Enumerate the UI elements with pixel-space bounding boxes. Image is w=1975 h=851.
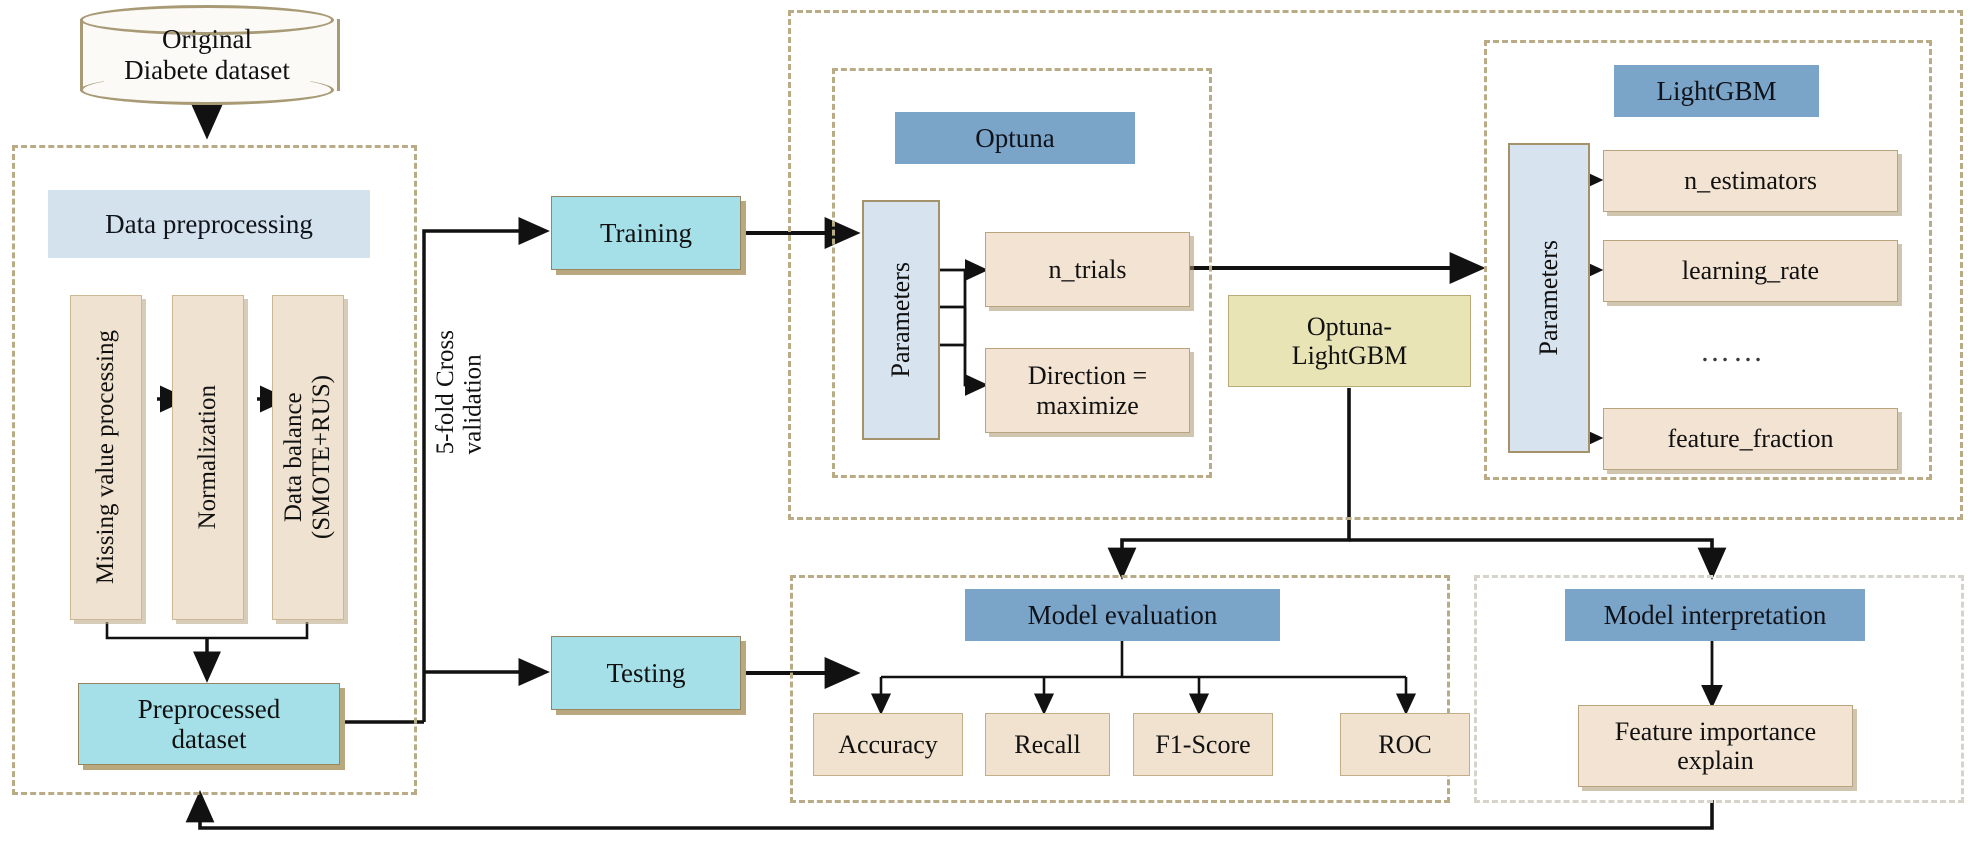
metric-recall[interactable]: Recall bbox=[985, 713, 1110, 776]
cross-validation-label: 5-fold Cross validation bbox=[432, 330, 492, 461]
original-dataset-label: Original Diabete dataset bbox=[80, 5, 334, 105]
metric-accuracy[interactable]: Accuracy bbox=[813, 713, 963, 776]
lightgbm-header: LightGBM bbox=[1614, 65, 1819, 117]
lightgbm-parameters-label: Parameters bbox=[1534, 240, 1563, 356]
lightgbm-param-feature-fraction[interactable]: feature_fraction bbox=[1603, 408, 1898, 470]
lightgbm-parameters-box[interactable]: Parameters bbox=[1508, 143, 1590, 453]
flowchart-canvas: Original Diabete dataset Data preprocess… bbox=[0, 0, 1975, 851]
preprocessed-dataset-box[interactable]: Preprocessed dataset bbox=[78, 683, 340, 765]
data-balance-line-2: (SMOTE+RUS) bbox=[308, 375, 335, 539]
preprocessing-step-normalization[interactable]: Normalization bbox=[172, 295, 244, 620]
feature-importance-line-2: explain bbox=[1677, 746, 1754, 775]
preprocessing-step-label: Missing value processing bbox=[92, 330, 120, 584]
feature-importance-box[interactable]: Feature importance explain bbox=[1578, 705, 1853, 787]
cv-line-2: validation bbox=[460, 354, 487, 454]
preprocessing-step-missing-value[interactable]: Missing value processing bbox=[70, 295, 142, 620]
cv-line-1: 5-fold Cross bbox=[432, 330, 459, 454]
feature-importance-line-1: Feature importance bbox=[1615, 717, 1816, 746]
metric-roc[interactable]: ROC bbox=[1340, 713, 1470, 776]
dataset-line-1: Original bbox=[162, 24, 252, 54]
optuna-param-n-trials[interactable]: n_trials bbox=[985, 232, 1190, 307]
optuna-param-direction[interactable]: Direction = maximize bbox=[985, 348, 1190, 433]
preprocessing-step-label: Data balance (SMOTE+RUS) bbox=[280, 375, 336, 539]
preprocessing-step-label: Normalization bbox=[194, 385, 222, 529]
direction-line-1: Direction = bbox=[1028, 361, 1147, 390]
optuna-parameters-box[interactable]: Parameters bbox=[862, 200, 940, 440]
direction-line-2: maximize bbox=[1036, 391, 1139, 420]
model-evaluation-header: Model evaluation bbox=[965, 589, 1280, 641]
data-preprocessing-header: Data preprocessing bbox=[48, 190, 370, 258]
preprocessed-line-1: Preprocessed bbox=[138, 694, 280, 724]
lightgbm-param-learning-rate[interactable]: learning_rate bbox=[1603, 240, 1898, 302]
combined-line-1: Optuna- bbox=[1307, 312, 1392, 341]
preprocessed-line-2: dataset bbox=[172, 724, 247, 754]
optuna-lightgbm-box[interactable]: Optuna- LightGBM bbox=[1228, 295, 1471, 387]
optuna-parameters-label: Parameters bbox=[886, 262, 915, 378]
combined-line-2: LightGBM bbox=[1292, 341, 1408, 370]
data-balance-line-1: Data balance bbox=[280, 393, 307, 523]
testing-box[interactable]: Testing bbox=[551, 636, 741, 710]
optuna-header: Optuna bbox=[895, 112, 1135, 164]
model-interpretation-header: Model interpretation bbox=[1565, 589, 1865, 641]
training-box[interactable]: Training bbox=[551, 196, 741, 270]
original-dataset-cylinder: Original Diabete dataset bbox=[80, 5, 334, 105]
dataset-line-2: Diabete dataset bbox=[124, 55, 290, 85]
preprocessing-step-data-balance[interactable]: Data balance (SMOTE+RUS) bbox=[272, 295, 344, 620]
metric-f1-score[interactable]: F1-Score bbox=[1133, 713, 1273, 776]
lightgbm-param-n-estimators[interactable]: n_estimators bbox=[1603, 150, 1898, 212]
